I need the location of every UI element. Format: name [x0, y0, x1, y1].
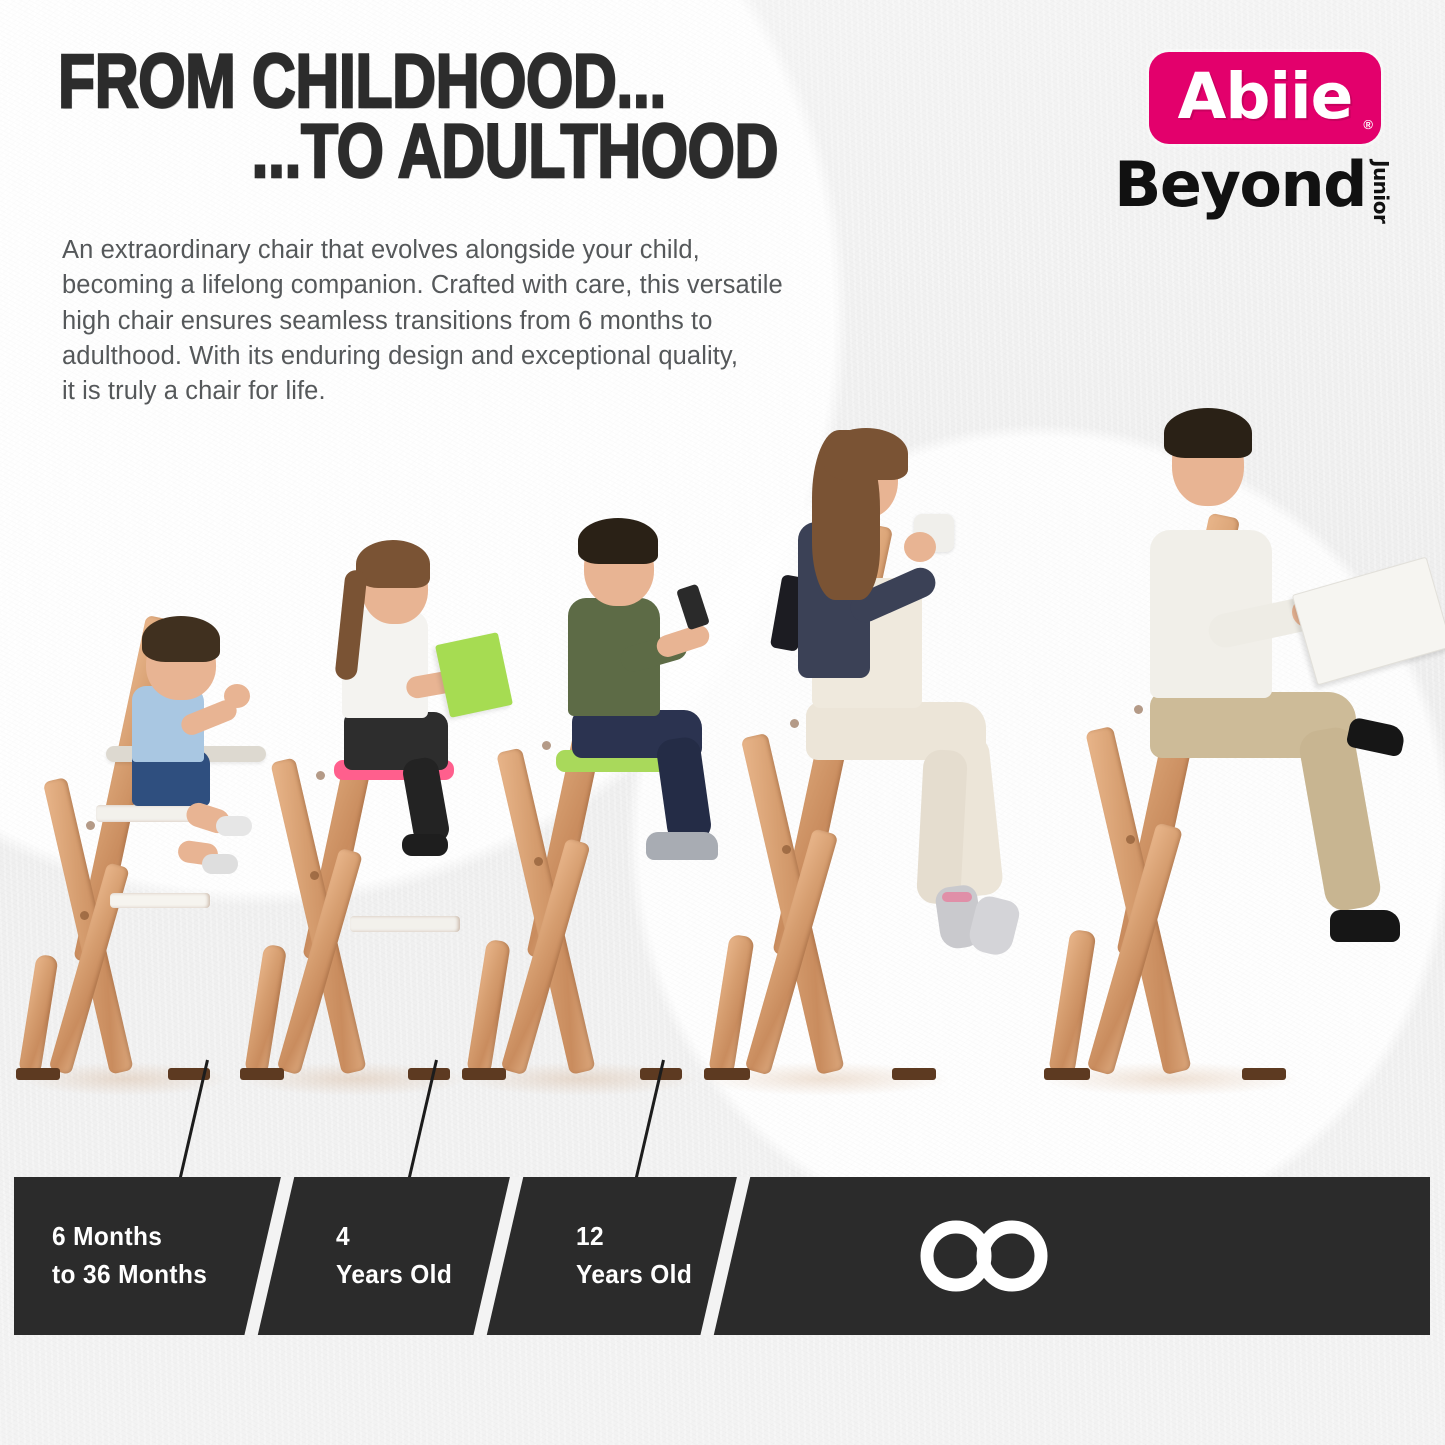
chair-peg	[310, 871, 319, 880]
segment-label-line-1: 12	[576, 1218, 745, 1256]
description-line-2: becoming a lifelong companion. Crafted w…	[62, 268, 1062, 303]
page-title: FROM CHILDHOOD... ...TO ADULTHOOD	[58, 50, 958, 184]
woman-hand	[904, 532, 936, 562]
chair-curved-base	[1048, 929, 1096, 1076]
man-shoe	[1330, 910, 1400, 942]
segment-label-line-2: to 36 Months	[52, 1256, 268, 1294]
beyond-junior-row: Beyond Junior	[1103, 154, 1403, 228]
timeline-segment-4-years: 4 Years Old	[336, 1177, 516, 1335]
woman-sock-accent	[942, 892, 972, 902]
girl-hair	[356, 540, 430, 588]
newspaper	[1292, 557, 1445, 686]
headline-line-2: ...TO ADULTHOOD	[58, 120, 778, 184]
chair-peg	[1134, 705, 1143, 714]
toddler-hair	[142, 616, 220, 662]
chair-peg	[790, 719, 799, 728]
abiie-logo-badge: Abiie ®	[1149, 52, 1381, 144]
chair-footrest	[110, 893, 210, 908]
chair-peg	[80, 911, 89, 920]
junior-variant-text: Junior	[1369, 160, 1393, 223]
figure-woman-with-mug	[690, 320, 1070, 1080]
beyond-product-text: Beyond	[1114, 154, 1366, 216]
segment-label-line-1: 4	[336, 1218, 505, 1256]
segment-label-line-2: Years Old	[576, 1256, 745, 1294]
timeline-segment-lifetime	[914, 1177, 1074, 1335]
timeline-connector-lines	[0, 1060, 1445, 1190]
chair-footrest	[350, 916, 460, 932]
headline-line-1: FROM CHILDHOOD...	[58, 50, 778, 114]
description-line-1: An extraordinary chair that evolves alon…	[62, 233, 1062, 268]
chair-peg	[1126, 835, 1135, 844]
age-timeline-bar: 6 Months to 36 Months 4 Years Old 12 Yea…	[14, 1177, 1430, 1335]
woman-hair-top	[824, 428, 908, 480]
connector-line-2	[406, 1060, 438, 1187]
abiie-brand-text: Abiie	[1149, 52, 1381, 144]
chair-peg	[782, 845, 791, 854]
woman-lower-leg	[916, 749, 968, 905]
man-hair	[1164, 408, 1252, 458]
figure-man-with-newspaper	[1030, 310, 1445, 1080]
registered-trademark-icon: ®	[1363, 117, 1373, 132]
boy-hair	[578, 518, 658, 564]
timeline-segment-infant: 6 Months to 36 Months	[52, 1177, 282, 1335]
brand-logo: Abiie ® Beyond Junior	[1103, 52, 1403, 228]
segment-label-line-1: 6 Months	[52, 1218, 268, 1256]
chair-peg	[316, 771, 325, 780]
timeline-segment-12-years: 12 Years Old	[576, 1177, 756, 1335]
segment-label-line-2: Years Old	[336, 1256, 505, 1294]
chair-peg	[86, 821, 95, 830]
chair-evolution-scene	[0, 440, 1445, 1080]
chair-peg	[542, 741, 551, 750]
connector-line-3	[633, 1060, 665, 1187]
infinity-icon	[914, 1215, 1054, 1297]
girl-shoe	[402, 834, 448, 856]
connector-line-1	[177, 1060, 209, 1187]
headline-line-2-wrap: ...TO ADULTHOOD	[58, 120, 958, 184]
chair-peg	[534, 857, 543, 866]
